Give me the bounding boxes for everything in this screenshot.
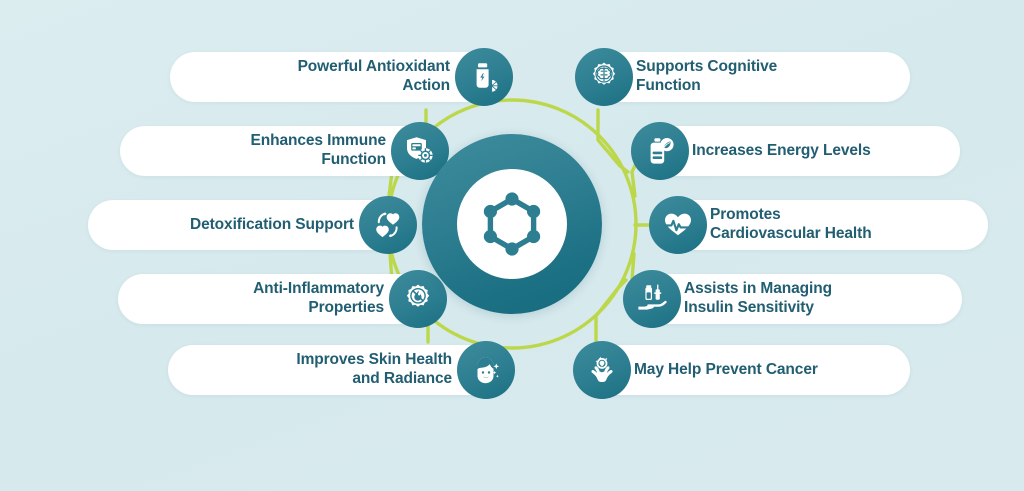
- benefit-label: Detoxification Support: [190, 216, 360, 235]
- hub-inner-disc: [457, 169, 567, 279]
- insulin-syringe-hand-icon: [623, 270, 681, 328]
- benefit-card-powerful-antioxidant-action[interactable]: Powerful Antioxidant Action: [170, 52, 510, 102]
- benefit-card-anti-inflammatory-properties[interactable]: Anti-Inflammatory Properties: [118, 274, 444, 324]
- no-flame-gear-icon: [389, 270, 447, 328]
- benefit-label: Improves Skin Health and Radiance: [296, 351, 458, 389]
- benefit-card-improves-skin-health-and-radiance[interactable]: Improves Skin Health and Radiance: [168, 345, 512, 395]
- benefit-label: Increases Energy Levels: [688, 142, 871, 161]
- supplement-bottle-citrus-icon: [455, 48, 513, 106]
- benefit-card-increases-energy-levels[interactable]: Increases Energy Levels: [634, 126, 960, 176]
- central-hub: [422, 134, 602, 314]
- benefit-label: Promotes Cardiovascular Health: [706, 206, 872, 244]
- benefit-label: Supports Cognitive Function: [632, 58, 777, 96]
- benefit-card-promotes-cardiovascular-health[interactable]: Promotes Cardiovascular Health: [652, 200, 988, 250]
- benefit-label: Anti-Inflammatory Properties: [253, 280, 390, 318]
- benefit-card-assists-in-managing-insulin-sensitivity[interactable]: Assists in Managing Insulin Sensitivity: [626, 274, 962, 324]
- benefit-label: May Help Prevent Cancer: [630, 361, 818, 380]
- battery-leaf-icon: [631, 122, 689, 180]
- benefit-label: Enhances Immune Function: [251, 132, 392, 170]
- molecule-hexagon-icon: [475, 187, 549, 261]
- benefit-card-enhances-immune-function[interactable]: Enhances Immune Function: [120, 126, 446, 176]
- infographic-canvas: Powerful Antioxidant Action Enhances Imm…: [0, 0, 1024, 491]
- hands-ribbon-icon: [573, 341, 631, 399]
- recycle-hearts-icon: [359, 196, 417, 254]
- brain-gear-icon: [575, 48, 633, 106]
- heart-pulse-icon: [649, 196, 707, 254]
- benefit-label: Powerful Antioxidant Action: [298, 58, 456, 96]
- benefit-card-may-help-prevent-cancer[interactable]: May Help Prevent Cancer: [576, 345, 910, 395]
- benefit-card-supports-cognitive-function[interactable]: Supports Cognitive Function: [578, 52, 910, 102]
- glowing-face-icon: [457, 341, 515, 399]
- benefit-card-detoxification-support[interactable]: Detoxification Support: [88, 200, 414, 250]
- benefit-label: Assists in Managing Insulin Sensitivity: [680, 280, 832, 318]
